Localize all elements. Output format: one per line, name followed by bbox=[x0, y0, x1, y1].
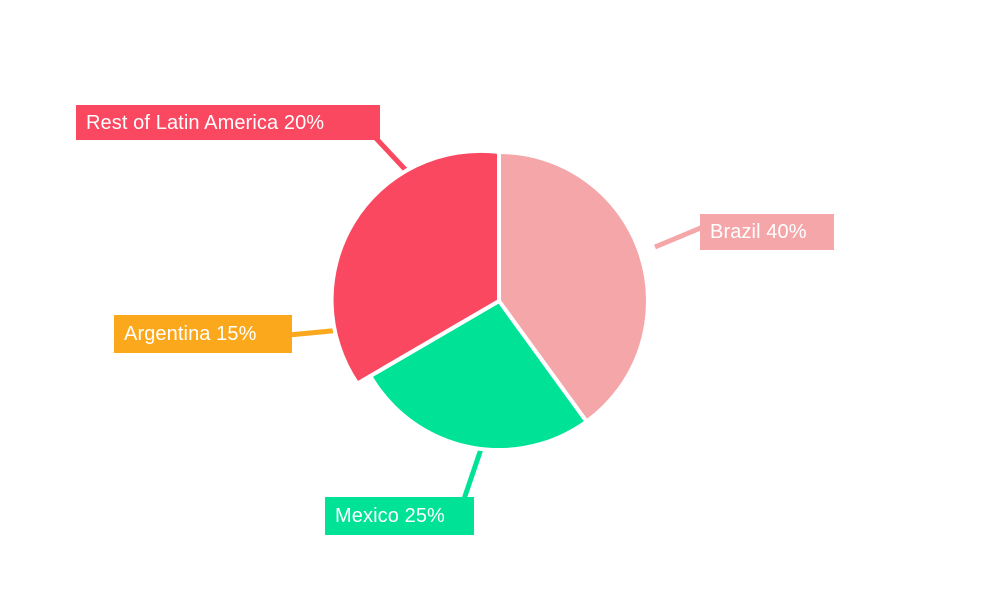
pie-label-brazil[interactable]: Brazil 40% bbox=[700, 214, 834, 250]
pie-slices bbox=[332, 151, 648, 450]
pie-label-rest-of-latin-america[interactable]: Rest of Latin America 20% bbox=[76, 105, 380, 140]
pie-label-argentina-text: Argentina 15% bbox=[124, 324, 257, 344]
pie-chart bbox=[0, 0, 1000, 600]
pie-label-rest-of-latin-america-text: Rest of Latin America 20% bbox=[86, 113, 324, 133]
leader-line-brazil bbox=[655, 227, 703, 247]
pie-label-mexico-text: Mexico 25% bbox=[335, 506, 445, 526]
chart-canvas: Brazil 40% Mexico 25% Argentina 15% Rest… bbox=[0, 0, 1000, 600]
pie-label-argentina[interactable]: Argentina 15% bbox=[114, 315, 292, 353]
pie-label-mexico[interactable]: Mexico 25% bbox=[325, 497, 474, 535]
pie-label-brazil-text: Brazil 40% bbox=[710, 222, 807, 242]
